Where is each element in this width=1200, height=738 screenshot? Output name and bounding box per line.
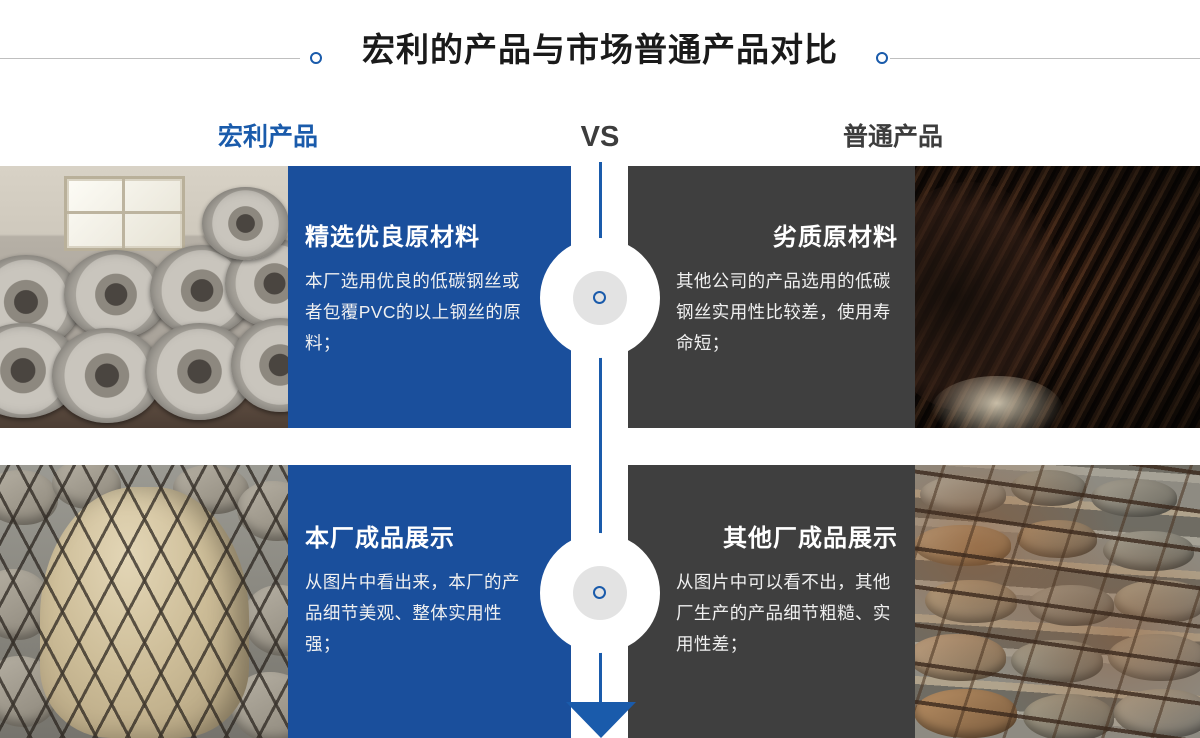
rough-gabion-image bbox=[914, 465, 1200, 738]
panel-right-row1: 劣质原材料 其他公司的产品选用的低碳钢丝实用性比较差，使用寿命短； bbox=[628, 166, 915, 428]
panel-title: 本厂成品展示 bbox=[305, 523, 571, 555]
loose-mesh-overlay bbox=[914, 465, 1200, 738]
panel-right-row2: 其他厂成品展示 从图片中可以看不出，其他厂生产的产品细节粗糙、实用性差； bbox=[628, 465, 915, 738]
panel-left-row1: 精选优良原材料 本厂选用优良的低碳钢丝或者包覆PVC的以上钢丝的原料； bbox=[288, 166, 571, 428]
comparison-infographic: 宏利的产品与市场普通产品对比 宏利产品 VS 普通产品 bbox=[0, 0, 1200, 738]
rusty-wire-image bbox=[914, 166, 1200, 428]
panel-body: 其他公司的产品选用的低碳钢丝实用性比较差，使用寿命短； bbox=[676, 266, 898, 359]
panel-left-row2: 本厂成品展示 从图片中看出来，本厂的产品细节美观、整体实用性强； bbox=[288, 465, 571, 738]
panel-title: 劣质原材料 bbox=[628, 222, 898, 254]
wire-coils-image bbox=[0, 166, 289, 428]
circle-outline-icon-right bbox=[876, 52, 888, 64]
title-band: 宏利的产品与市场普通产品对比 bbox=[0, 0, 1200, 105]
triangle-down-icon bbox=[566, 702, 636, 738]
photo-left-row1 bbox=[0, 166, 289, 428]
vs-label: VS bbox=[0, 118, 1200, 156]
node-ring-icon bbox=[593, 291, 606, 304]
photo-left-row2 bbox=[0, 465, 289, 738]
panel-title: 精选优良原材料 bbox=[305, 222, 571, 254]
circle-node-icon-2 bbox=[540, 533, 660, 653]
warehouse-window bbox=[64, 176, 186, 250]
photo-right-row2 bbox=[914, 465, 1200, 738]
gabion-boulder-image bbox=[0, 465, 289, 738]
panel-body: 从图片中看出来，本厂的产品细节美观、整体实用性强； bbox=[305, 567, 523, 660]
circle-node-icon-1 bbox=[540, 238, 660, 358]
column-header-right: 普通产品 bbox=[843, 118, 943, 156]
panel-title: 其他厂成品展示 bbox=[628, 523, 898, 555]
page-title: 宏利的产品与市场普通产品对比 bbox=[0, 27, 1200, 73]
title-rule-right bbox=[890, 58, 1200, 59]
hex-mesh-overlay bbox=[0, 465, 289, 738]
panel-body: 从图片中可以看不出，其他厂生产的产品细节粗糙、实用性差； bbox=[676, 567, 898, 660]
panel-body: 本厂选用优良的低碳钢丝或者包覆PVC的以上钢丝的原料； bbox=[305, 266, 523, 359]
node-ring-icon bbox=[593, 586, 606, 599]
photo-right-row1 bbox=[914, 166, 1200, 428]
